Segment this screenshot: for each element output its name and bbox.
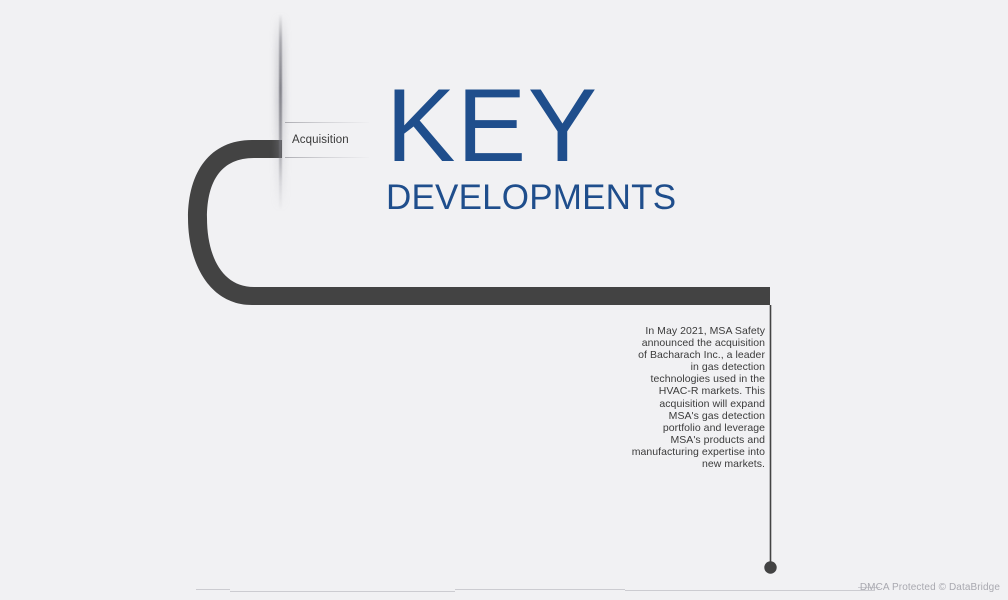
title-main-text: KEY	[386, 78, 806, 174]
footer-rule-1	[196, 589, 230, 590]
vertical-accent-line	[279, 14, 282, 210]
label-rule-top	[285, 122, 369, 123]
watermark-text: DMCA Protected © DataBridge	[860, 581, 1000, 594]
page-title: KEY DEVELOPMENTS	[386, 78, 806, 218]
title-sub-text: DEVELOPMENTS	[386, 178, 806, 218]
end-dot	[764, 561, 776, 573]
category-label: Acquisition	[283, 122, 369, 158]
label-rule-bottom	[285, 157, 369, 158]
slide-canvas: Acquisition KEY DEVELOPMENTS In May 2021…	[0, 0, 1008, 600]
footer-rule-3	[455, 589, 625, 590]
body-paragraph: In May 2021, MSA Safety announced the ac…	[630, 325, 765, 470]
footer-rule-2	[230, 591, 455, 592]
footer-rule-4	[625, 590, 875, 591]
category-label-text: Acquisition	[292, 133, 349, 147]
